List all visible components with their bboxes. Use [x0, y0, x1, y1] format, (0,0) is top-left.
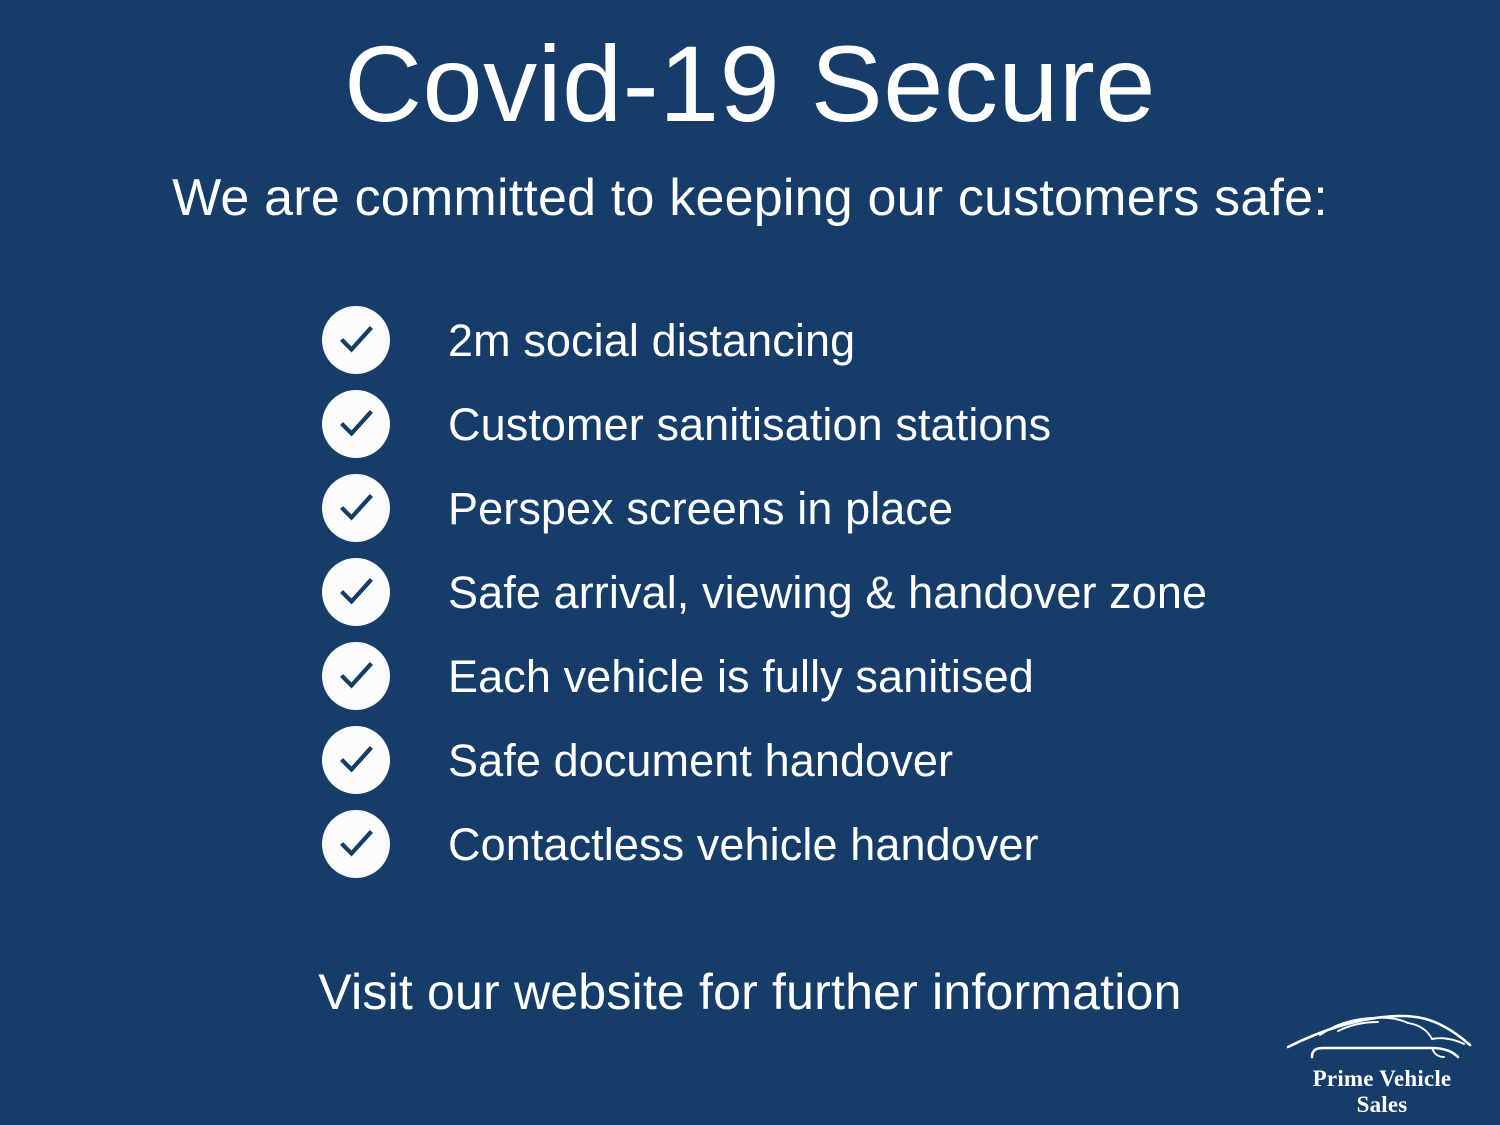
check-circle-icon [322, 642, 390, 710]
brand-logo: Prime Vehicle Sales [1276, 1007, 1488, 1119]
list-item-label: Safe document handover [448, 738, 953, 783]
list-item-label: 2m social distancing [448, 318, 855, 363]
check-circle-icon [322, 390, 390, 458]
list-item: Safe arrival, viewing & handover zone [322, 550, 1322, 634]
page-title: Covid-19 Secure [0, 26, 1500, 143]
check-circle-icon [322, 306, 390, 374]
list-item-label: Perspex screens in place [448, 486, 953, 531]
check-circle-icon [322, 810, 390, 878]
safety-measures-list: 2m social distancing Customer sanitisati… [322, 298, 1322, 886]
list-item-label: Customer sanitisation stations [448, 402, 1051, 447]
page-subtitle: We are committed to keeping our customer… [0, 170, 1500, 227]
list-item: Contactless vehicle handover [322, 802, 1322, 886]
sports-car-silhouette-icon [1282, 1007, 1482, 1065]
list-item: Customer sanitisation stations [322, 382, 1322, 466]
check-circle-icon [322, 558, 390, 626]
check-circle-icon [322, 474, 390, 542]
brand-name-line-2: Sales [1276, 1092, 1488, 1118]
list-item: Each vehicle is fully sanitised [322, 634, 1322, 718]
list-item: Safe document handover [322, 718, 1322, 802]
list-item-label: Each vehicle is fully sanitised [448, 654, 1034, 699]
list-item: Perspex screens in place [322, 466, 1322, 550]
list-item-label: Safe arrival, viewing & handover zone [448, 570, 1207, 615]
covid-secure-poster: Covid-19 Secure We are committed to keep… [0, 0, 1500, 1125]
list-item: 2m social distancing [322, 298, 1322, 382]
brand-name-line-1: Prime Vehicle [1276, 1066, 1488, 1092]
website-callout: Visit our website for further informatio… [0, 963, 1500, 1021]
check-circle-icon [322, 726, 390, 794]
list-item-label: Contactless vehicle handover [448, 822, 1039, 867]
